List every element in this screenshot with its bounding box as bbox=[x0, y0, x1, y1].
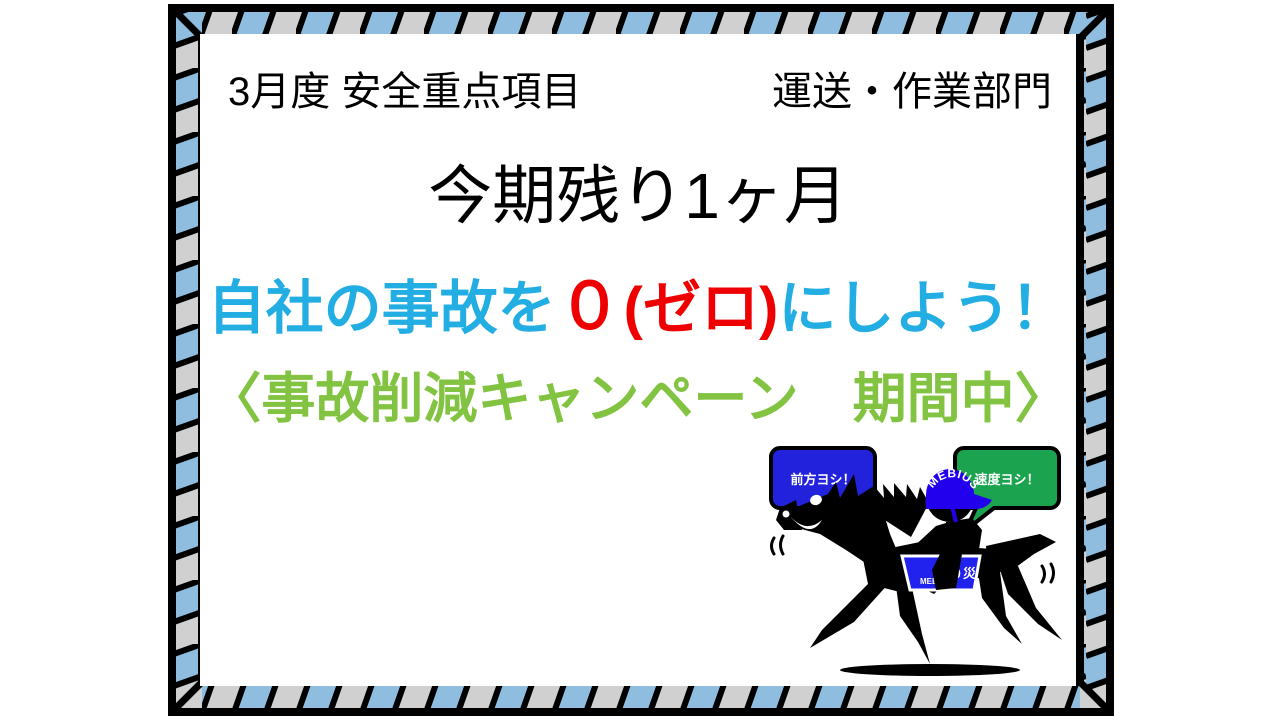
header-month-topic: 3月度 安全重点項目 bbox=[228, 72, 581, 112]
slogan-paren-open: ( bbox=[624, 276, 643, 341]
horse-illustration-svg: 前方ヨシ！ 速度ヨシ！ bbox=[750, 438, 1090, 686]
headline-remaining-period: 今期残り1ヶ月 bbox=[200, 164, 1076, 228]
speech-bubble-right-text: 速度ヨシ！ bbox=[974, 472, 1039, 487]
slogan-part2: にしよう！ bbox=[778, 276, 1068, 341]
slogan-zero-number: ０ bbox=[556, 270, 624, 342]
slogan-paren-close: ) bbox=[759, 276, 778, 341]
slogan-line: 自社の事故を０(ゼロ)にしよう！ bbox=[200, 274, 1076, 338]
saddle-blanket: MEBIUS ０災 bbox=[902, 550, 980, 590]
poster-root: 3月度 安全重点項目 運送・作業部門 今期残り1ヶ月 自社の事故を０(ゼロ)にし… bbox=[0, 0, 1280, 720]
horse-illustration: 前方ヨシ！ 速度ヨシ！ bbox=[750, 438, 1090, 686]
ground-shadow bbox=[840, 664, 1020, 676]
speech-bubble-left-text: 前方ヨシ！ bbox=[790, 472, 855, 487]
header: 3月度 安全重点項目 運送・作業部門 bbox=[228, 72, 1058, 112]
campaign-line: 〈事故削減キャンペーン 期間中〉 bbox=[200, 372, 1076, 426]
slogan-zero-kana: ゼロ bbox=[643, 276, 759, 341]
header-department: 運送・作業部門 bbox=[772, 72, 1052, 112]
slogan-part1: 自社の事故を bbox=[208, 276, 556, 341]
